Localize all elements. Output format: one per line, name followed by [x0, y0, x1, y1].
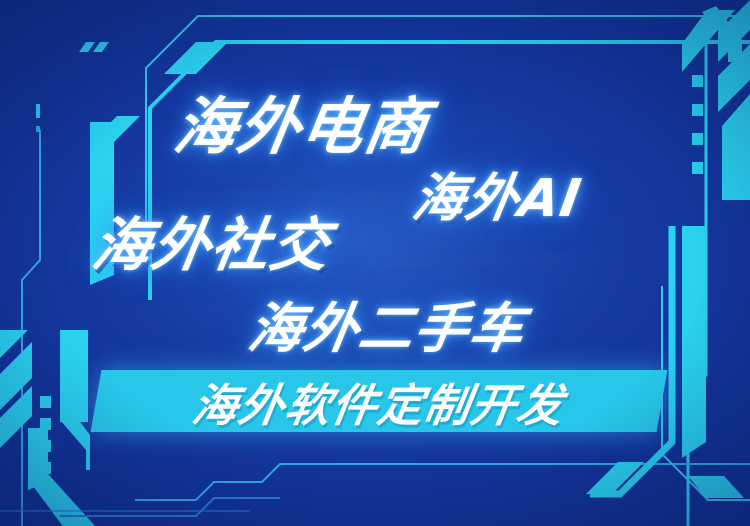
right-dot-2 [692, 133, 703, 145]
headline-1-text: 海外电商 [169, 90, 434, 163]
left-dot-1 [36, 126, 40, 132]
headline-2: 海外AI [408, 156, 588, 231]
headline-3: 海外社交 [87, 198, 337, 282]
right-dot-3 [692, 162, 703, 174]
headline-4-text: 海外二手车 [244, 297, 529, 360]
headline-2-text: 海外AI [408, 169, 585, 229]
left-dot-0 [36, 104, 40, 118]
headline-1: 海外电商 [169, 76, 436, 166]
headline-3-text: 海外社交 [88, 211, 335, 279]
bottom-hairline [0, 510, 250, 512]
headline-4: 海外二手车 [244, 284, 532, 363]
ribbon-label: 海外软件定制开发 [91, 370, 667, 432]
tech-banner: 海外电商 海外AI 海外社交 海外二手车 海外软件定制开发 [0, 0, 750, 526]
right-dot-0 [692, 75, 703, 87]
right-dot-1 [692, 104, 703, 116]
